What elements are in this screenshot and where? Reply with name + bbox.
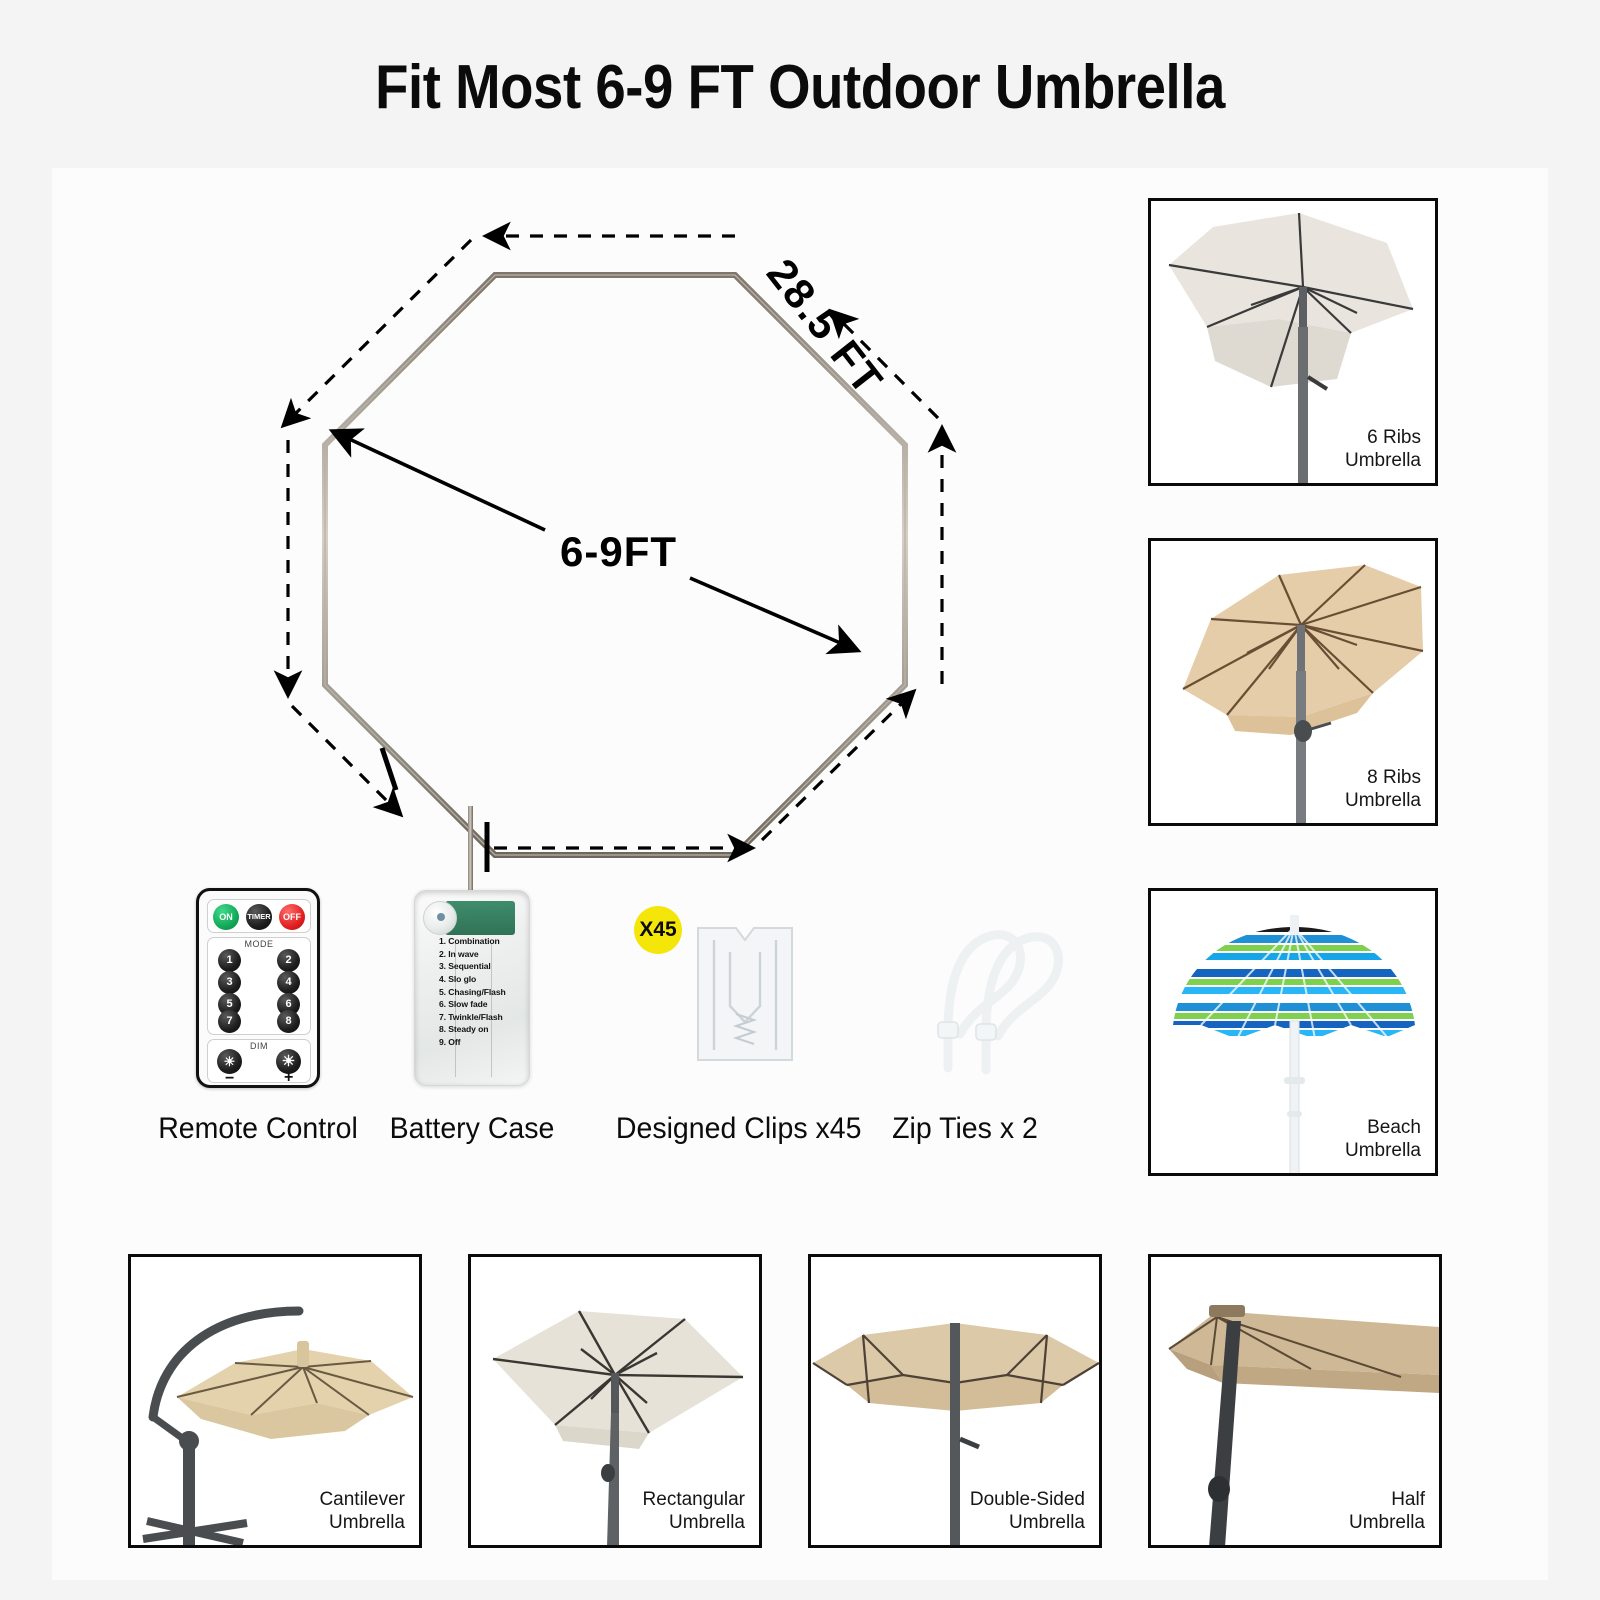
remote-timer-button[interactable]: TIMER xyxy=(246,904,272,930)
remote-mode-group: MODE 1 2 3 4 5 6 7 8 xyxy=(207,937,311,1035)
remote-on-button[interactable]: ON xyxy=(213,904,239,930)
panel-label: Double-Sided Umbrella xyxy=(970,1488,1085,1536)
panel-label: Rectangular Umbrella xyxy=(643,1488,745,1536)
mode-item: 1. Combination xyxy=(439,935,506,948)
mode-item: 4. Slo glo xyxy=(439,973,506,986)
remote-dim-plus[interactable]: + xyxy=(284,1070,293,1086)
panel-label: Cantilever Umbrella xyxy=(319,1488,405,1536)
mode-item: 9. Off xyxy=(439,1036,506,1049)
remote-control[interactable]: ON TIMER OFF MODE 1 2 3 4 5 6 7 8 DIM ☀ … xyxy=(196,888,320,1088)
panel-eight-ribs-umbrella[interactable]: 8 Ribs Umbrella xyxy=(1148,538,1438,826)
remote-off-button[interactable]: OFF xyxy=(279,904,305,930)
panel-six-ribs-umbrella[interactable]: 6 Ribs Umbrella xyxy=(1148,198,1438,486)
battery-case-label: Battery Case xyxy=(377,1112,567,1146)
battery-case-switch[interactable] xyxy=(423,901,457,935)
mode-item: 3. Sequential xyxy=(439,960,506,973)
canopy xyxy=(177,1349,413,1439)
panel-rectangular-umbrella[interactable]: Rectangular Umbrella xyxy=(468,1254,762,1548)
remote-mode-2-button[interactable]: 2 xyxy=(277,949,300,972)
panel-half-umbrella[interactable]: Half Umbrella xyxy=(1148,1254,1442,1548)
canopy-hub xyxy=(1209,1305,1245,1317)
remote-mode-3-button[interactable]: 3 xyxy=(218,971,241,994)
zip-ties xyxy=(890,900,1070,1075)
panel-beach-umbrella[interactable]: Beach Umbrella xyxy=(1148,888,1438,1176)
battery-case-wire xyxy=(468,806,473,892)
remote-mode-1-button[interactable]: 1 xyxy=(218,949,241,972)
crank-handle xyxy=(601,1464,615,1482)
panel-label: Beach Umbrella xyxy=(1345,1116,1421,1164)
canopy-hub xyxy=(297,1341,309,1367)
panel-label: 6 Ribs Umbrella xyxy=(1345,426,1421,474)
remote-mode-8-button[interactable]: 8 xyxy=(277,1010,300,1033)
panel-double-sided-umbrella[interactable]: Double-Sided Umbrella xyxy=(808,1254,1102,1548)
diameter-dimension-label: 6-9FT xyxy=(560,528,677,576)
mode-item: 6. Slow fade xyxy=(439,998,506,1011)
remote-mode-7-button[interactable]: 7 xyxy=(218,1010,241,1033)
crank-handle xyxy=(960,1439,979,1447)
canopy xyxy=(1169,1311,1439,1393)
remote-dim-minus[interactable]: − xyxy=(225,1071,234,1087)
infographic-page: Fit Most 6-9 FT Outdoor Umbrella xyxy=(0,0,1600,1600)
remote-control-label: Remote Control xyxy=(155,1112,360,1146)
battery-case[interactable]: 1. Combination 2. In wave 3. Sequential … xyxy=(414,890,530,1086)
designed-clip xyxy=(690,910,800,1070)
panel-label: 8 Ribs Umbrella xyxy=(1345,766,1421,814)
crank-handle xyxy=(1208,1476,1230,1502)
mode-item: 2. In wave xyxy=(439,948,506,961)
mode-item: 5. Chasing/Flash xyxy=(439,986,506,999)
panel-cantilever-umbrella[interactable]: Cantilever Umbrella xyxy=(128,1254,422,1548)
remote-dim-group: DIM ☀ ☀ − + xyxy=(207,1039,311,1083)
canopy xyxy=(1169,213,1413,387)
remote-mode-4-button[interactable]: 4 xyxy=(277,971,300,994)
panel-label: Half Umbrella xyxy=(1349,1488,1425,1536)
battery-case-mode-list: 1. Combination 2. In wave 3. Sequential … xyxy=(439,935,506,1049)
clip-quantity-badge: X45 xyxy=(634,906,682,954)
mode-item: 8. Steady on xyxy=(439,1023,506,1036)
page-title: Fit Most 6-9 FT Outdoor Umbrella xyxy=(96,52,1504,123)
remote-mode-caption: MODE xyxy=(208,939,310,949)
designed-clips-label: Designed Clips x45 xyxy=(616,1112,840,1146)
crank-handle xyxy=(1294,720,1312,742)
mode-item: 7. Twinkle/Flash xyxy=(439,1011,506,1024)
zip-ties-label: Zip Ties x 2 xyxy=(867,1112,1063,1146)
remote-power-group: ON TIMER OFF xyxy=(207,899,311,933)
